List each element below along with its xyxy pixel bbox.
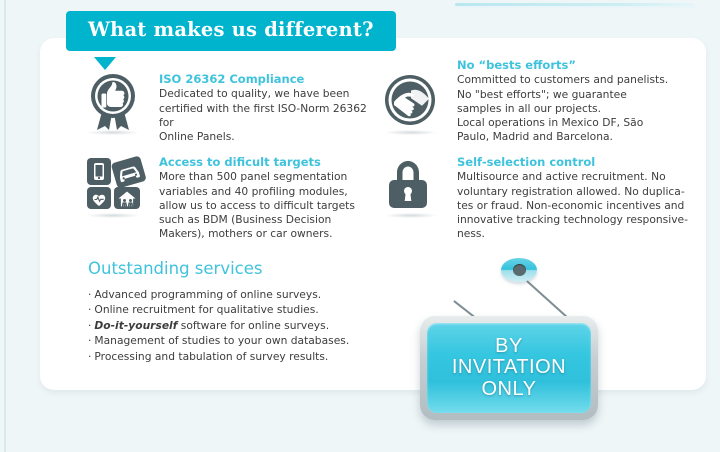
- header-banner: What makes us different?: [66, 11, 396, 51]
- list-item: ·Advanced programming of online surveys.: [88, 287, 368, 303]
- sign-line-2: INVITATION: [452, 357, 566, 378]
- bullet-glyph: ·: [88, 319, 91, 332]
- banner-pointer-triangle: [94, 57, 116, 70]
- feature-body: ISO 26362 Compliance Dedicated to qualit…: [159, 72, 379, 144]
- list-item-text: Online recruitment for qualitative studi…: [94, 303, 318, 316]
- feature-description: Dedicated to quality, we have been certi…: [159, 87, 379, 144]
- list-item: ·Online recruitment for qualitative stud…: [88, 302, 368, 318]
- feature-title: No “bests efforts”: [457, 58, 687, 72]
- list-item: ·Processing and tabulation of survey res…: [88, 349, 368, 365]
- by-invitation-only-sign: BY INVITATION ONLY: [408, 258, 608, 428]
- sign-line-3: ONLY: [452, 379, 566, 400]
- bullet-glyph: ·: [88, 303, 91, 316]
- feature-body: Self-selection control Multisource and a…: [457, 155, 692, 242]
- feature-description: Committed to customers and panelists. No…: [457, 73, 687, 144]
- outstanding-services-section: Outstanding services ·Advanced programmi…: [88, 261, 368, 364]
- sign-hook-hole: [513, 264, 526, 276]
- feature-body: No “bests efforts” Committed to customer…: [457, 58, 687, 145]
- list-item-emphasis: Do-it-yourself: [94, 319, 177, 332]
- bullet-glyph: ·: [88, 350, 91, 363]
- icon-shadow: [385, 130, 437, 135]
- top-accent-rule-secondary: [455, 6, 695, 8]
- feature-body: Access to dificult targets More than 500…: [159, 155, 379, 242]
- list-item: ·Do-it-yourself software for online surv…: [88, 318, 368, 334]
- feature-description: Multisource and active recruitment. No v…: [457, 170, 692, 241]
- list-item: ·Management of studies to your own datab…: [88, 333, 368, 349]
- icon-shadow: [87, 213, 139, 218]
- padlock-icon: [383, 155, 441, 217]
- list-item-text: Processing and tabulation of survey resu…: [94, 350, 328, 363]
- services-title: Outstanding services: [88, 261, 368, 278]
- feature-description: More than 500 panel segmentation variabl…: [159, 170, 379, 241]
- feature-title: Self-selection control: [457, 155, 692, 169]
- sign-plate: BY INVITATION ONLY: [420, 316, 598, 420]
- infographic-canvas: What makes us different? ISO 26362 Compl…: [0, 0, 720, 452]
- page-title: What makes us different?: [88, 20, 374, 40]
- feature-title: ISO 26362 Compliance: [159, 72, 379, 86]
- list-item-text: Management of studies to your own databa…: [94, 334, 349, 347]
- sign-text: BY INVITATION ONLY: [452, 336, 566, 400]
- bullet-glyph: ·: [88, 288, 91, 301]
- target-segments-icon: [85, 155, 143, 217]
- handshake-circle-icon: [383, 72, 441, 134]
- services-list: ·Advanced programming of online surveys.…: [88, 287, 368, 365]
- left-edge-divider: [4, 0, 6, 452]
- sign-face: BY INVITATION ONLY: [427, 323, 591, 413]
- thumbs-up-medal-icon: [85, 72, 143, 134]
- icon-shadow: [385, 213, 437, 218]
- sign-line-1: BY: [452, 336, 566, 357]
- feature-title: Access to dificult targets: [159, 155, 379, 169]
- icon-shadow: [87, 130, 139, 135]
- list-item-text: Advanced programming of online surveys.: [94, 288, 321, 301]
- bullet-glyph: ·: [88, 334, 91, 347]
- list-item-text: software for online surveys.: [177, 319, 329, 332]
